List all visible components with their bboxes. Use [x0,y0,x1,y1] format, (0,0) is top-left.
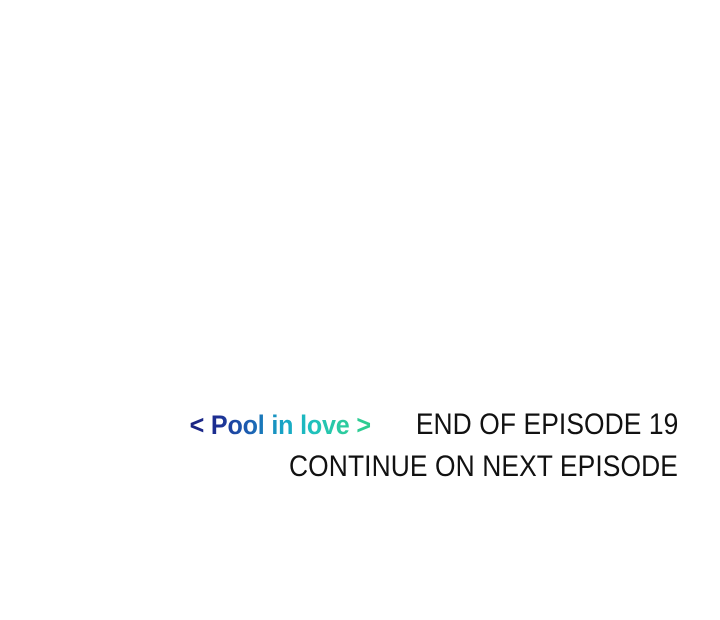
series-title: < Pool in love > [189,404,370,446]
continue-note: CONTINUE ON NEXT EPISODE [289,446,678,488]
end-card: < Pool in love >END OF EPISODE 19 CONTIN… [0,404,720,488]
end-card-line-1: < Pool in love >END OF EPISODE 19 [0,404,678,446]
episode-tag: END OF EPISODE 19 [415,404,678,446]
end-card-line-2: CONTINUE ON NEXT EPISODE [0,446,678,488]
episode-page: < Pool in love >END OF EPISODE 19 CONTIN… [0,0,720,620]
